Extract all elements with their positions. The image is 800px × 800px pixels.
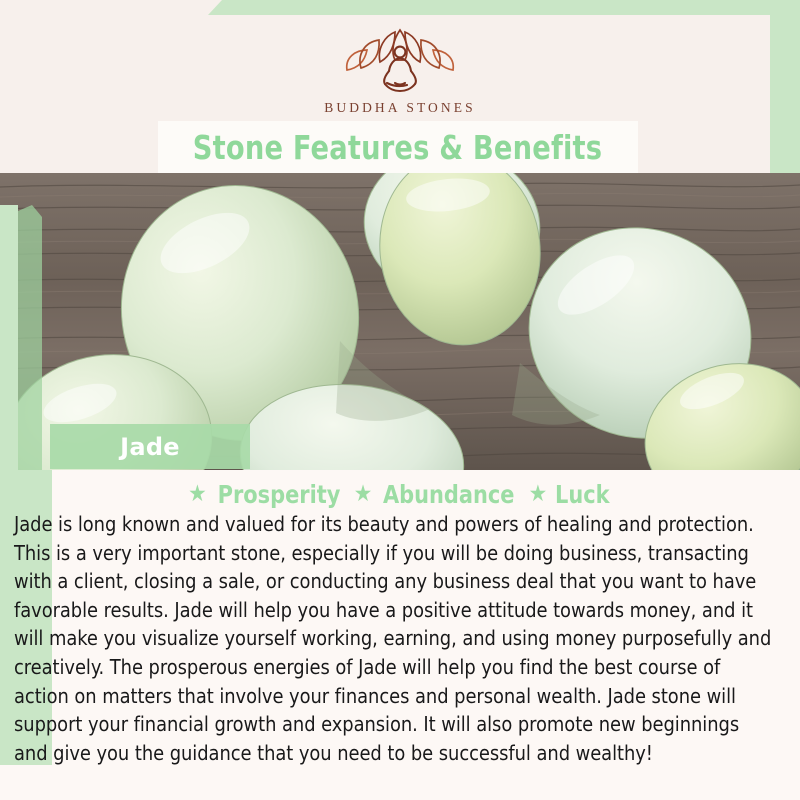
benefit-item-abundance: ★ Abundance — [354, 480, 520, 509]
benefit-label: Prosperity — [217, 480, 340, 509]
stone-description: Jade is long known and valued for its be… — [14, 510, 774, 767]
decorative-band-top — [0, 0, 800, 15]
benefit-label: Luck — [555, 480, 610, 509]
stone-name-band: Jade — [50, 424, 250, 469]
benefit-label: Abundance — [383, 480, 515, 509]
benefit-item-luck: ★ Luck — [529, 480, 612, 509]
lotus-meditation-icon — [325, 26, 475, 94]
infographic-page: BUDDHA STONES — [0, 0, 800, 800]
star-icon: ★ — [354, 483, 373, 506]
brand-logo: BUDDHA STONES — [0, 26, 800, 116]
benefit-item-prosperity: ★ Prosperity — [188, 480, 345, 509]
brand-wordmark: BUDDHA STONES — [324, 100, 475, 116]
stone-name: Jade — [120, 433, 180, 461]
star-icon: ★ — [188, 483, 207, 506]
decorative-band-left-photo — [18, 205, 42, 470]
title-banner: Stone Features & Benefits — [158, 121, 638, 173]
benefits-list: ★ Prosperity ★ Abundance ★ Luck — [0, 480, 800, 509]
star-icon: ★ — [529, 483, 548, 506]
page-title: Stone Features & Benefits — [193, 128, 602, 167]
